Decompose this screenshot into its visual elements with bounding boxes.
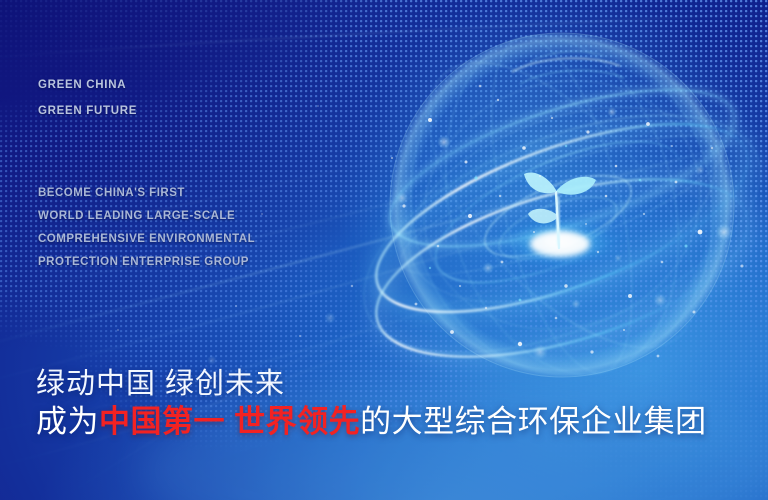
headline-accent: 中国第一 世界领先 — [99, 404, 360, 439]
eyebrow-line-1: GREEN CHINA — [38, 72, 137, 98]
tagline-line-4: PROTECTION ENTERPRISE GROUP — [38, 251, 255, 274]
tagline-text-block: BECOME CHINA'S FIRST WORLD LEADING LARGE… — [38, 182, 255, 274]
headline-text-block: 绿动中国 绿创未来 成为中国第一 世界领先的大型综合环保企业集团 — [36, 366, 707, 442]
eyebrow-text-block: GREEN CHINA GREEN FUTURE — [38, 72, 137, 124]
headline-suffix: 的大型综合环保企业集团 — [360, 404, 707, 439]
wireframe-globe — [331, 3, 768, 407]
hero-banner: GREEN CHINA GREEN FUTURE BECOME CHINA'S … — [0, 0, 768, 500]
headline-prefix: 成为 — [36, 404, 99, 439]
tagline-line-2: WORLD LEADING LARGE-SCALE — [38, 205, 255, 228]
eyebrow-line-2: GREEN FUTURE — [38, 98, 137, 124]
headline-line-2: 成为中国第一 世界领先的大型综合环保企业集团 — [36, 402, 707, 442]
tagline-line-1: BECOME CHINA'S FIRST — [38, 182, 255, 205]
headline-line-1: 绿动中国 绿创未来 — [36, 366, 707, 402]
tagline-line-3: COMPREHENSIVE ENVIRONMENTAL — [38, 228, 255, 251]
